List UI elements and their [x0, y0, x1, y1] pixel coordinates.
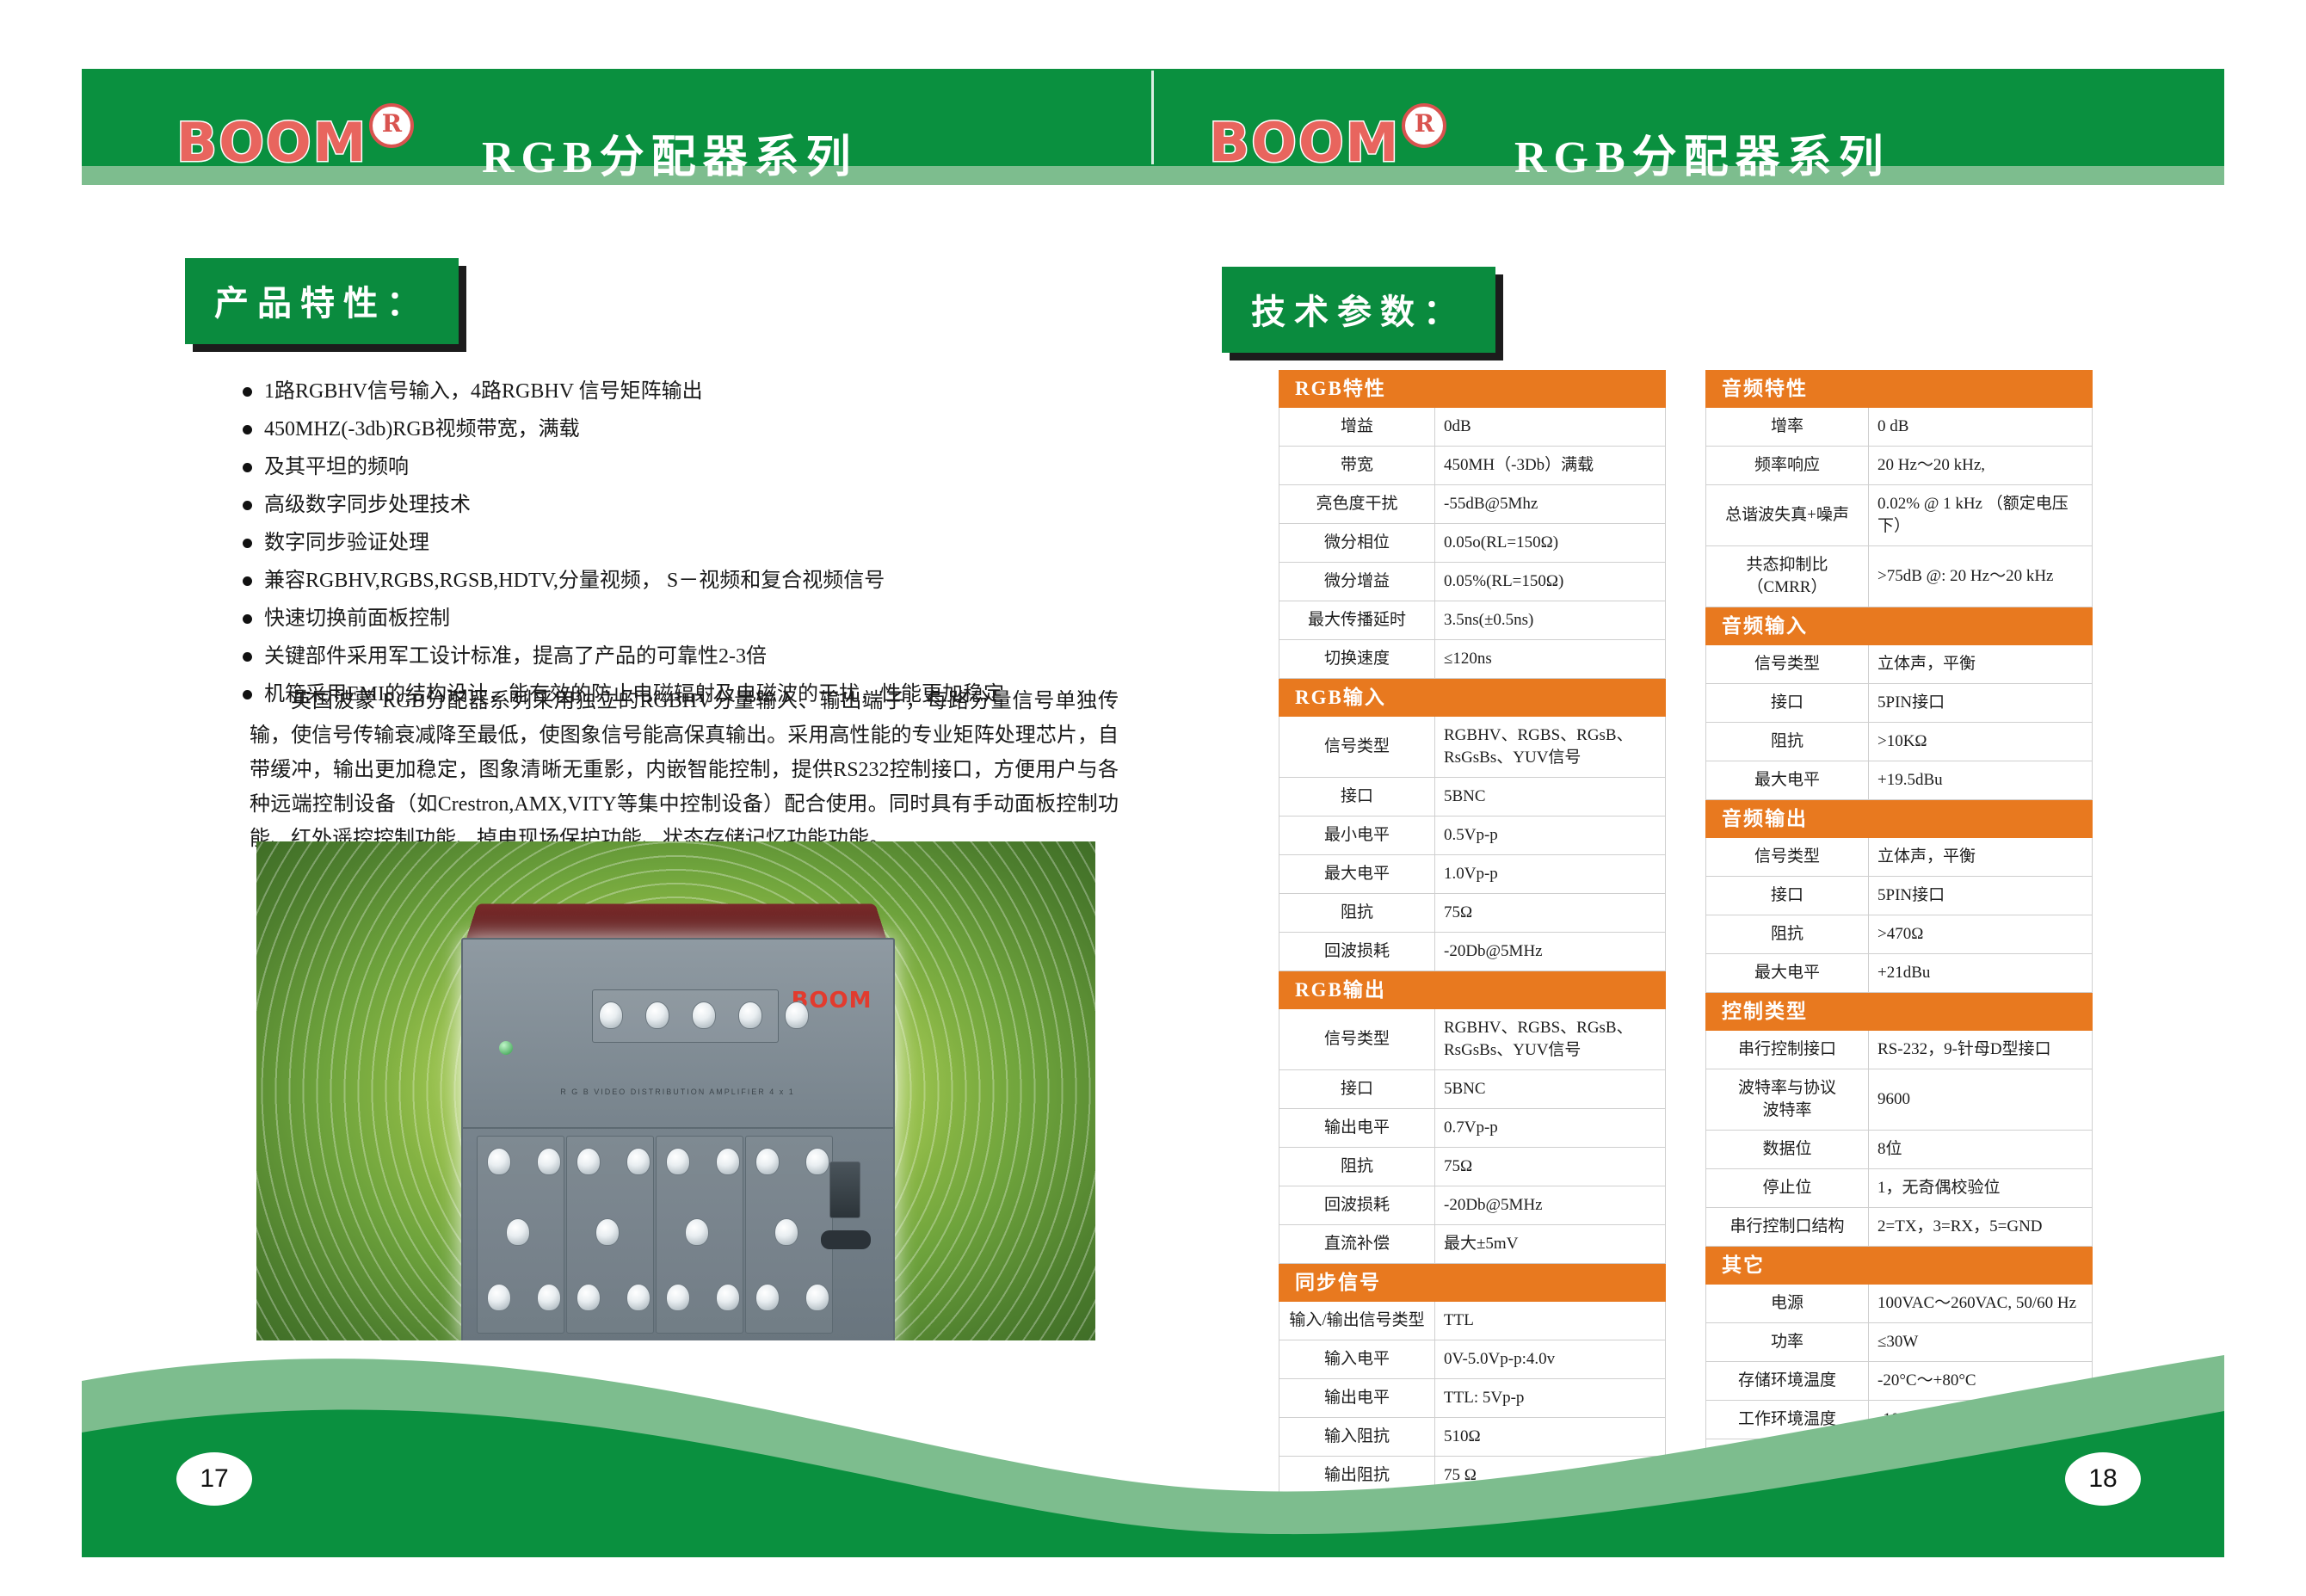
spec-row: 增益0dB — [1279, 408, 1666, 447]
bnc-connector — [537, 1284, 561, 1311]
bnc-connector — [595, 1218, 620, 1246]
feature-item: 1路RGBHV信号输入，4路RGBHV 信号矩阵输出 — [243, 379, 862, 404]
bnc-connector — [805, 1148, 829, 1175]
spec-value: 75Ω — [1435, 1148, 1666, 1186]
spec-key: 最大电平 — [1279, 855, 1435, 894]
page-title-left: RGB分配器系列 — [482, 120, 858, 185]
spec-value: >75dB @: 20 Hz～20 kHz — [1869, 546, 2093, 607]
bnc-connector — [716, 1284, 740, 1311]
feature-item: 高级数字同步处理技术 — [243, 492, 862, 518]
bnc-connector — [506, 1218, 530, 1246]
device-model-text: R G B VIDEO DISTRIBUTION AMPLIFIER 4 x 1 — [560, 1088, 795, 1096]
spec-key: 共态抑制比（CMRR） — [1706, 546, 1869, 607]
spec-row: 阻抗>470Ω — [1706, 915, 2093, 954]
spec-table: RGB输出信号类型RGBHV、RGBS、RGsB、RsGsBs、YUV信号接口5… — [1279, 971, 1666, 1264]
spec-table-header-row: 音频输入 — [1706, 608, 2093, 645]
spec-table-title: 音频特性 — [1706, 371, 2093, 408]
brand-wordmark: BOOM — [176, 116, 367, 169]
device-front-panel: BOOM R G B VIDEO DISTRIBUTION AMPLIFIER … — [461, 938, 895, 1340]
spec-key: 回波损耗 — [1279, 933, 1435, 971]
spec-row: 切换速度≤120ns — [1279, 640, 1666, 679]
bnc-connector — [774, 1218, 798, 1246]
spec-value: -20Db@5MHz — [1435, 1186, 1666, 1225]
spec-value: 5BNC — [1435, 1070, 1666, 1109]
device-illustration: BOOM R G B VIDEO DISTRIBUTION AMPLIFIER … — [461, 902, 891, 1340]
spec-key: 接口 — [1279, 1070, 1435, 1109]
bullet-icon — [243, 539, 252, 548]
spec-table: RGB输入信号类型RGBHV、RGBS、RGsB、RsGsBs、YUV信号接口5… — [1279, 679, 1666, 971]
spec-key: 信号类型 — [1279, 1009, 1435, 1070]
registered-trademark-icon: R — [369, 103, 414, 148]
output-bnc-row — [774, 1218, 798, 1246]
output-bnc-row — [506, 1218, 530, 1246]
bnc-connector — [805, 1284, 829, 1311]
feature-label: 关键部件采用军工设计标准，提高了产品的可靠性2-3倍 — [264, 644, 862, 669]
feature-label: 数字同步验证处理 — [264, 530, 862, 556]
bnc-connector — [537, 1148, 561, 1175]
spec-key: 微分相位 — [1279, 524, 1435, 563]
spec-table-header-row: 音频特性 — [1706, 371, 2093, 408]
spec-row: 信号类型RGBHV、RGBS、RGsB、RsGsBs、YUV信号 — [1279, 1009, 1666, 1070]
feature-item: 快速切换前面板控制 — [243, 606, 862, 632]
output-bnc-row — [685, 1218, 709, 1246]
spec-row: 最大电平+19.5dBu — [1706, 761, 2093, 800]
bnc-connector — [785, 1001, 809, 1029]
spec-value: 5PIN接口 — [1869, 877, 2093, 915]
spec-table-title: 音频输入 — [1706, 608, 2093, 645]
spec-key: 微分增益 — [1279, 563, 1435, 601]
spec-key: 接口 — [1706, 877, 1869, 915]
spec-row: 接口5PIN接口 — [1706, 684, 2093, 723]
registered-trademark-icon: R — [1402, 103, 1446, 148]
product-photo: BOOM R G B VIDEO DISTRIBUTION AMPLIFIER … — [256, 841, 1095, 1340]
spec-row: 信号类型立体声，平衡 — [1706, 645, 2093, 684]
spec-row: 信号类型RGBHV、RGBS、RGsB、RsGsBs、YUV信号 — [1279, 717, 1666, 778]
spec-row: 接口5BNC — [1279, 778, 1666, 816]
bullet-icon — [243, 501, 252, 510]
spec-table-title: 同步信号 — [1279, 1265, 1666, 1302]
spec-value: 0.02% @ 1 kHz （额定电压下） — [1869, 485, 2093, 546]
spec-key: 亮色度干扰 — [1279, 485, 1435, 524]
spec-row: 串行控制接口RS-232，9-针母D型接口 — [1706, 1031, 2093, 1069]
spec-table: 音频特性增率0 dB频率响应20 Hz～20 kHz,总谐波失真+噪声0.02%… — [1705, 370, 2093, 607]
bnc-connector — [685, 1218, 709, 1246]
spec-table-title: RGB特性 — [1279, 371, 1666, 408]
bnc-connector — [487, 1148, 511, 1175]
spec-key: 停止位 — [1706, 1169, 1869, 1208]
brochure-spread: BOOMR RGB分配器系列 BOOMR RGB分配器系列 产品特性： 1路RG… — [0, 0, 2306, 1596]
spec-key: 增率 — [1706, 408, 1869, 447]
spec-key: 波特率与协议波特率 — [1706, 1069, 1869, 1131]
bnc-connector — [738, 1001, 762, 1029]
output-bnc-row — [595, 1218, 620, 1246]
spec-row: 微分增益0.05%(RL=150Ω) — [1279, 563, 1666, 601]
spec-table-header-row: 同步信号 — [1279, 1265, 1666, 1302]
page-number-left: 17 — [176, 1452, 252, 1506]
spec-row: 亮色度干扰-55dB@5Mhz — [1279, 485, 1666, 524]
spec-row: 直流补偿最大±5mV — [1279, 1225, 1666, 1264]
spec-value: 5PIN接口 — [1869, 684, 2093, 723]
bnc-connector — [716, 1148, 740, 1175]
spec-table-title: 控制类型 — [1706, 994, 2093, 1031]
spec-key: 信号类型 — [1706, 645, 1869, 684]
page-title-right: RGB分配器系列 — [1514, 120, 1890, 185]
spec-key: 增益 — [1279, 408, 1435, 447]
spec-value: -55dB@5Mhz — [1435, 485, 1666, 524]
spec-value: 0.05o(RL=150Ω) — [1435, 524, 1666, 563]
feature-label: 450MHZ(-3db)RGB视频带宽，满载 — [264, 416, 862, 442]
spec-value: ≤120ns — [1435, 640, 1666, 679]
feature-label: 及其平坦的频响 — [264, 454, 862, 480]
spec-row: 频率响应20 Hz～20 kHz, — [1706, 447, 2093, 485]
spec-value: 20 Hz～20 kHz, — [1869, 447, 2093, 485]
spec-key: 最大电平 — [1706, 761, 1869, 800]
spec-value: 0.05%(RL=150Ω) — [1435, 563, 1666, 601]
output-bnc-row — [755, 1284, 829, 1311]
spec-key: 信号类型 — [1706, 838, 1869, 877]
spec-value: 450MH（-3Db）满载 — [1435, 447, 1666, 485]
spec-table: RGB特性增益0dB带宽450MH（-3Db）满载亮色度干扰-55dB@5Mhz… — [1279, 370, 1666, 679]
device-upper-panel: BOOM R G B VIDEO DISTRIBUTION AMPLIFIER … — [463, 940, 893, 1129]
spec-row: 接口5BNC — [1279, 1070, 1666, 1109]
spec-row: 阻抗75Ω — [1279, 894, 1666, 933]
spec-table-title: 音频输出 — [1706, 801, 2093, 838]
spec-row: 停止位1，无奇偶校验位 — [1706, 1169, 2093, 1208]
spec-value: 1，无奇偶校验位 — [1869, 1169, 2093, 1208]
bnc-connector — [755, 1148, 780, 1175]
spec-table-header-row: 其它 — [1706, 1248, 2093, 1285]
feature-label: 1路RGBHV信号输入，4路RGBHV 信号矩阵输出 — [264, 379, 862, 404]
spec-value: 1.0Vp-p — [1435, 855, 1666, 894]
spec-row: 回波损耗-20Db@5MHz — [1279, 1186, 1666, 1225]
bnc-connector — [487, 1284, 511, 1311]
output-bnc-row — [666, 1284, 740, 1311]
spec-value: RS-232，9-针母D型接口 — [1869, 1031, 2093, 1069]
power-switch-icon — [829, 1162, 860, 1218]
spec-row: 电源100VAC～260VAC, 50/60 Hz — [1706, 1285, 2093, 1323]
spec-value: RGBHV、RGBS、RGsB、RsGsBs、YUV信号 — [1435, 717, 1666, 778]
spec-row: 增率0 dB — [1706, 408, 2093, 447]
power-led-icon — [499, 1041, 513, 1055]
spec-key: 频率响应 — [1706, 447, 1869, 485]
spec-key: 电源 — [1706, 1285, 1869, 1323]
output-bnc-row — [755, 1148, 829, 1175]
spec-key: 接口 — [1706, 684, 1869, 723]
bnc-connector — [755, 1284, 780, 1311]
spec-row: 最大传播延时3.5ns(±0.5ns) — [1279, 601, 1666, 640]
spec-row: 最小电平0.5Vp-p — [1279, 816, 1666, 855]
footer-wave — [82, 1321, 2224, 1557]
spec-row: 阻抗>10KΩ — [1706, 723, 2093, 761]
spec-table-header-row: RGB特性 — [1279, 371, 1666, 408]
specs-heading-plate: 技术参数： — [1222, 267, 1495, 353]
feature-label: 快速切换前面板控制 — [264, 606, 862, 632]
spec-table-header-row: RGB输入 — [1279, 680, 1666, 717]
spec-key: 最大电平 — [1706, 954, 1869, 993]
spec-key: 阻抗 — [1279, 1148, 1435, 1186]
device-top-cover — [465, 903, 887, 942]
feature-item: 及其平坦的频响 — [243, 454, 862, 480]
spec-value: 立体声，平衡 — [1869, 838, 2093, 877]
spec-row: 最大电平+21dBu — [1706, 954, 2093, 993]
spec-row: 最大电平1.0Vp-p — [1279, 855, 1666, 894]
spec-key: 最大传播延时 — [1279, 601, 1435, 640]
page-number-right: 18 — [2065, 1452, 2141, 1506]
spec-key: 输出电平 — [1279, 1109, 1435, 1148]
feature-item: 450MHZ(-3db)RGB视频带宽，满载 — [243, 416, 862, 442]
spec-value: 0 dB — [1869, 408, 2093, 447]
header-divider — [1151, 71, 1154, 164]
spec-table-title: RGB输入 — [1279, 680, 1666, 717]
feature-label: 高级数字同步处理技术 — [264, 492, 862, 518]
spec-row: 微分相位0.05o(RL=150Ω) — [1279, 524, 1666, 563]
feature-item: 关键部件采用军工设计标准，提高了产品的可靠性2-3倍 — [243, 644, 862, 669]
bnc-connector — [666, 1148, 690, 1175]
spec-key: 总谐波失真+噪声 — [1706, 485, 1869, 546]
spec-table: 控制类型串行控制接口RS-232，9-针母D型接口波特率与协议波特率9600数据… — [1705, 993, 2093, 1247]
spec-table: 音频输出信号类型立体声，平衡接口5PIN接口阻抗>470Ω最大电平+21dBu — [1705, 800, 2093, 993]
brand-wordmark: BOOM — [1209, 116, 1400, 169]
spec-key: 阻抗 — [1279, 894, 1435, 933]
spec-key: 数据位 — [1706, 1131, 1869, 1169]
spec-table-header-row: 音频输出 — [1706, 801, 2093, 838]
feature-list: 1路RGBHV信号输入，4路RGBHV 信号矩阵输出450MHZ(-3db)RG… — [243, 379, 862, 719]
spec-value: 0dB — [1435, 408, 1666, 447]
spec-value: +19.5dBu — [1869, 761, 2093, 800]
bullet-icon — [243, 652, 252, 662]
spec-value: 3.5ns(±0.5ns) — [1435, 601, 1666, 640]
spec-row: 阻抗75Ω — [1279, 1148, 1666, 1186]
device-lower-panel — [463, 1129, 893, 1340]
spec-key: 信号类型 — [1279, 717, 1435, 778]
spec-value: 5BNC — [1435, 778, 1666, 816]
output-bnc-row — [487, 1148, 561, 1175]
spec-value: >10KΩ — [1869, 723, 2093, 761]
spec-value: 最大±5mV — [1435, 1225, 1666, 1264]
spec-table-title: 其它 — [1706, 1248, 2093, 1285]
spec-row: 回波损耗-20Db@5MHz — [1279, 933, 1666, 971]
spec-key: 最小电平 — [1279, 816, 1435, 855]
output-bnc-row — [487, 1284, 561, 1311]
bnc-connector — [645, 1001, 669, 1029]
brand-logo-right: BOOMR — [1209, 116, 1445, 176]
feature-label: 兼容RGBHV,RGBS,RGSB,HDTV,分量视频， S－视频和复合视频信号 — [264, 568, 885, 594]
output-bnc-row — [576, 1284, 650, 1311]
spec-key: 回波损耗 — [1279, 1186, 1435, 1225]
bnc-connector — [599, 1001, 623, 1029]
spec-value: >470Ω — [1869, 915, 2093, 954]
bnc-connector — [576, 1284, 601, 1311]
bullet-icon — [243, 425, 252, 434]
feature-item: 兼容RGBHV,RGBS,RGSB,HDTV,分量视频， S－视频和复合视频信号 — [243, 568, 862, 594]
bnc-connector — [576, 1148, 601, 1175]
bnc-connector — [626, 1284, 650, 1311]
spec-row: 串行控制口结构2=TX，3=RX，5=GND — [1706, 1208, 2093, 1247]
features-heading-label: 产品特性： — [185, 258, 459, 344]
bullet-icon — [243, 576, 252, 586]
spec-value: 2=TX，3=RX，5=GND — [1869, 1208, 2093, 1247]
spec-table: 音频输入信号类型立体声，平衡接口5PIN接口阻抗>10KΩ最大电平+19.5dB… — [1705, 607, 2093, 800]
specs-heading-label: 技术参数： — [1222, 267, 1495, 353]
spec-row: 信号类型立体声，平衡 — [1706, 838, 2093, 877]
spec-value: 0.7Vp-p — [1435, 1109, 1666, 1148]
power-cord-icon — [821, 1230, 871, 1249]
spec-key: 阻抗 — [1706, 915, 1869, 954]
product-description: 英国波蒙 RGB分配器系列采用独立的RGBHV分量输入、输出端子，每路分量信号单… — [250, 684, 1119, 856]
bullet-icon — [243, 614, 252, 624]
spec-key: 带宽 — [1279, 447, 1435, 485]
features-heading-plate: 产品特性： — [185, 258, 459, 344]
spec-row: 数据位8位 — [1706, 1131, 2093, 1169]
spec-value: -20Db@5MHz — [1435, 933, 1666, 971]
brand-logo-left: BOOMR — [176, 116, 412, 176]
bnc-connector — [692, 1001, 716, 1029]
spec-key: 阻抗 — [1706, 723, 1869, 761]
bullet-icon — [243, 463, 252, 472]
spec-value: 0.5Vp-p — [1435, 816, 1666, 855]
input-bnc-row — [599, 1001, 809, 1029]
spec-table-header-row: RGB输出 — [1279, 972, 1666, 1009]
spec-key: 直流补偿 — [1279, 1225, 1435, 1264]
spec-value: 100VAC～260VAC, 50/60 Hz — [1869, 1285, 2093, 1323]
spec-key: 串行控制接口 — [1706, 1031, 1869, 1069]
spec-value: 9600 — [1869, 1069, 2093, 1131]
spec-row: 波特率与协议波特率9600 — [1706, 1069, 2093, 1131]
spec-value: 75Ω — [1435, 894, 1666, 933]
spec-row: 输出电平0.7Vp-p — [1279, 1109, 1666, 1148]
output-bnc-row — [666, 1148, 740, 1175]
spec-key: 串行控制口结构 — [1706, 1208, 1869, 1247]
output-bnc-row — [576, 1148, 650, 1175]
spec-value: 立体声，平衡 — [1869, 645, 2093, 684]
spec-value: +21dBu — [1869, 954, 2093, 993]
spec-row: 接口5PIN接口 — [1706, 877, 2093, 915]
spec-key: 接口 — [1279, 778, 1435, 816]
spec-row: 总谐波失真+噪声0.02% @ 1 kHz （额定电压下） — [1706, 485, 2093, 546]
spec-row: 带宽450MH（-3Db）满载 — [1279, 447, 1666, 485]
spec-table-title: RGB输出 — [1279, 972, 1666, 1009]
spec-value: RGBHV、RGBS、RGsB、RsGsBs、YUV信号 — [1435, 1009, 1666, 1070]
bnc-connector — [626, 1148, 650, 1175]
bullet-icon — [243, 387, 252, 397]
spec-value: 8位 — [1869, 1131, 2093, 1169]
bnc-connector — [666, 1284, 690, 1311]
feature-item: 数字同步验证处理 — [243, 530, 862, 556]
spec-table-header-row: 控制类型 — [1706, 994, 2093, 1031]
spec-row: 共态抑制比（CMRR）>75dB @: 20 Hz～20 kHz — [1706, 546, 2093, 607]
spec-key: 切换速度 — [1279, 640, 1435, 679]
